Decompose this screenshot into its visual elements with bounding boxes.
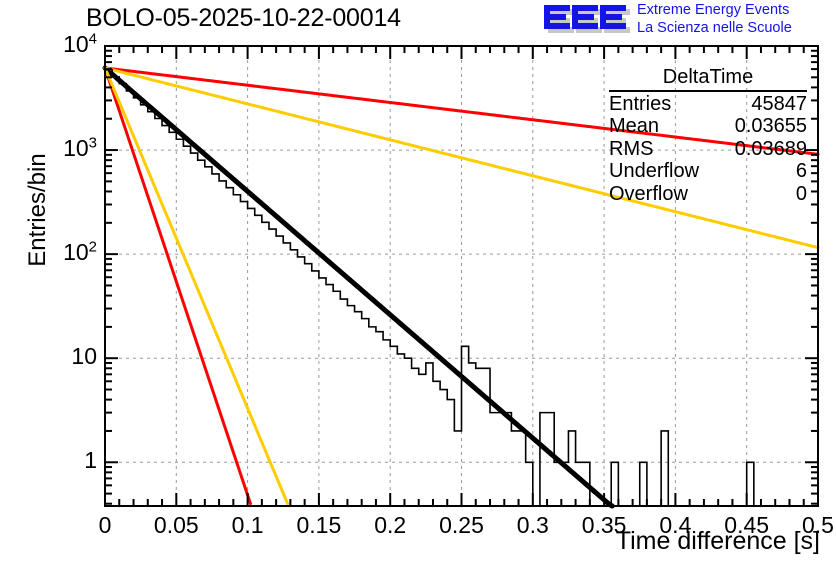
fit-curve-fit-yellow-steep	[105, 68, 288, 504]
x-tick-label: 0.15	[279, 512, 359, 539]
stats-row-label: Mean	[609, 115, 659, 138]
y-tick-label: 102	[7, 239, 97, 266]
x-tick-label: 0	[65, 512, 145, 539]
stats-row-label: Underflow	[609, 160, 699, 183]
stats-row-value: 0.03689	[735, 138, 807, 161]
x-tick-label: 0.4	[635, 512, 715, 539]
x-tick-label: 0.35	[564, 512, 644, 539]
plot-canvas: BOLO-05-2025-10-22-00014	[0, 0, 836, 572]
stats-row: Underflow6	[609, 160, 807, 183]
x-tick-label: 0.05	[136, 512, 216, 539]
stats-row-value: 45847	[751, 93, 807, 116]
x-tick-label: 0.2	[350, 512, 430, 539]
fit-curve-fit-black	[105, 68, 612, 506]
stats-row-label: RMS	[609, 138, 653, 161]
y-tick-label: 104	[7, 31, 97, 58]
stats-row-value: 0.03655	[735, 115, 807, 138]
stats-row: Overflow0	[609, 183, 807, 206]
stats-title: DeltaTime	[609, 66, 807, 90]
x-tick-label: 0.3	[493, 512, 573, 539]
stats-divider	[609, 90, 807, 92]
stats-row-value: 6	[796, 160, 807, 183]
stats-rows: Entries45847Mean0.03655RMS0.03689Underfl…	[609, 93, 807, 206]
stats-row-value: 0	[796, 183, 807, 206]
y-tick-label: 1	[7, 447, 97, 474]
x-tick-label: 0.25	[422, 512, 502, 539]
stats-row: Mean0.03655	[609, 115, 807, 138]
stats-box: DeltaTime Entries45847Mean0.03655RMS0.03…	[609, 66, 807, 205]
x-tick-label: 0.1	[208, 512, 288, 539]
stats-row: Entries45847	[609, 93, 807, 116]
stats-row-label: Overflow	[609, 183, 688, 206]
x-tick-label: 0.5	[778, 512, 836, 539]
stats-row: RMS0.03689	[609, 138, 807, 161]
y-tick-label: 10	[7, 343, 97, 370]
x-tick-label: 0.45	[707, 512, 787, 539]
stats-row-label: Entries	[609, 93, 671, 116]
y-tick-label: 103	[7, 135, 97, 162]
